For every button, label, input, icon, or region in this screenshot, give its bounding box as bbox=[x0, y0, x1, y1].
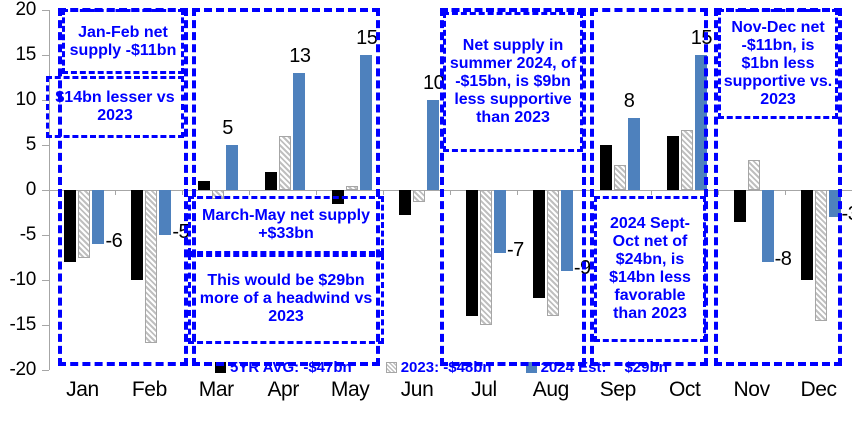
y-tickmark-20 bbox=[42, 10, 49, 11]
y-tickmark-0 bbox=[42, 190, 49, 191]
bar-value-label-dec: -3 bbox=[842, 203, 852, 226]
bar-chart: 20 15 10 5 0 -5 -10 -15 -20 -6-55131510-… bbox=[0, 0, 852, 424]
annotation-mar-may-net: March-May net supply +$33bn bbox=[188, 196, 384, 254]
y-tick-0: 0 bbox=[26, 179, 36, 201]
y-tick-5: 5 bbox=[26, 134, 36, 156]
legend-swatch-2023-icon bbox=[386, 362, 397, 373]
bar-y2023-jun bbox=[413, 190, 425, 202]
y-tick-n10: -10 bbox=[9, 269, 36, 291]
y-tickmark-5 bbox=[42, 145, 49, 146]
y-axis: 20 15 10 5 0 -5 -10 -15 -20 bbox=[0, 0, 42, 380]
y-tickmark-n10 bbox=[42, 280, 49, 281]
x-label-aug: Aug bbox=[517, 378, 584, 402]
x-label-sep: Sep bbox=[584, 378, 651, 402]
x-label-jun: Jun bbox=[384, 378, 451, 402]
y-tickmark-15 bbox=[42, 55, 49, 56]
x-label-may: May bbox=[317, 378, 384, 402]
x-axis-labels: JanFebMarAprMayJunJulAugSepOctNovDec bbox=[49, 378, 852, 422]
x-label-oct: Oct bbox=[651, 378, 718, 402]
bar-y2024-jun bbox=[427, 100, 439, 190]
annotation-summer-supply: Net supply in summer 2024, of -$15bn, is… bbox=[443, 12, 583, 152]
x-label-mar: Mar bbox=[183, 378, 250, 402]
y-tick-n15: -15 bbox=[9, 314, 36, 336]
annotation-jan-feb-lesser: $14bn lesser vs 2023 bbox=[46, 76, 184, 138]
annotation-jan-feb-net: Jan-Feb net supply -$11bn bbox=[62, 9, 184, 74]
bar-avg-jun bbox=[399, 190, 411, 215]
y-tick-20: 20 bbox=[15, 0, 36, 21]
annotation-sept-oct: 2024 Sept-Oct net of $24bn, is $14bn les… bbox=[594, 196, 706, 342]
y-tickmark-n20 bbox=[42, 370, 49, 371]
y-tick-n5: -5 bbox=[20, 224, 36, 246]
y-tick-n20: -20 bbox=[9, 359, 36, 381]
x-label-apr: Apr bbox=[250, 378, 317, 402]
x-label-jul: Jul bbox=[451, 378, 518, 402]
y-tickmark-n15 bbox=[42, 325, 49, 326]
y-tick-10: 10 bbox=[15, 89, 36, 111]
y-tick-15: 15 bbox=[15, 44, 36, 66]
x-label-nov: Nov bbox=[718, 378, 785, 402]
y-tickmark-n5 bbox=[42, 235, 49, 236]
x-label-dec: Dec bbox=[785, 378, 852, 402]
x-label-feb: Feb bbox=[116, 378, 183, 402]
annotation-nov-dec: Nov-Dec net -$11bn, is $1bn less support… bbox=[718, 9, 838, 119]
x-label-jan: Jan bbox=[49, 378, 116, 402]
annotation-mar-may-headwind: This would be $29bn more of a headwind v… bbox=[188, 254, 384, 344]
